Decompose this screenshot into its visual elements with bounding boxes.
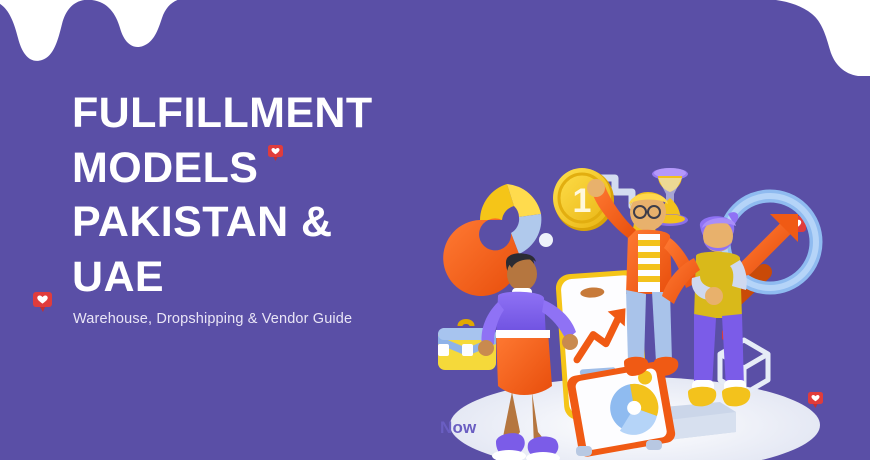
title-line-3: PAKISTAN & xyxy=(72,195,432,250)
hero-illustration: 1 xyxy=(420,150,870,460)
floating-ball xyxy=(539,233,553,247)
growth-arrow xyxy=(746,214,798,268)
banner-root: FULFILLMENT MODELS PAKISTAN & UAE Wareho… xyxy=(0,0,870,460)
page-subtitle: Warehouse, Dropshipping & Vendor Guide xyxy=(73,311,352,327)
page-title: FULFILLMENT MODELS PAKISTAN & UAE xyxy=(72,86,432,304)
title-line-1: FULFILLMENT xyxy=(72,86,432,141)
title-line-2: MODELS xyxy=(72,141,432,196)
heart-badge-headline xyxy=(268,145,284,164)
drip-top-left-shape xyxy=(0,0,186,84)
heart-badge-left xyxy=(33,292,53,314)
illustration-overlay-text: Now xyxy=(440,418,476,438)
character-man-magnifier xyxy=(662,212,750,406)
title-line-4: UAE xyxy=(72,250,432,305)
drip-top-right-shape xyxy=(672,0,870,76)
striped-shirt xyxy=(638,234,660,292)
